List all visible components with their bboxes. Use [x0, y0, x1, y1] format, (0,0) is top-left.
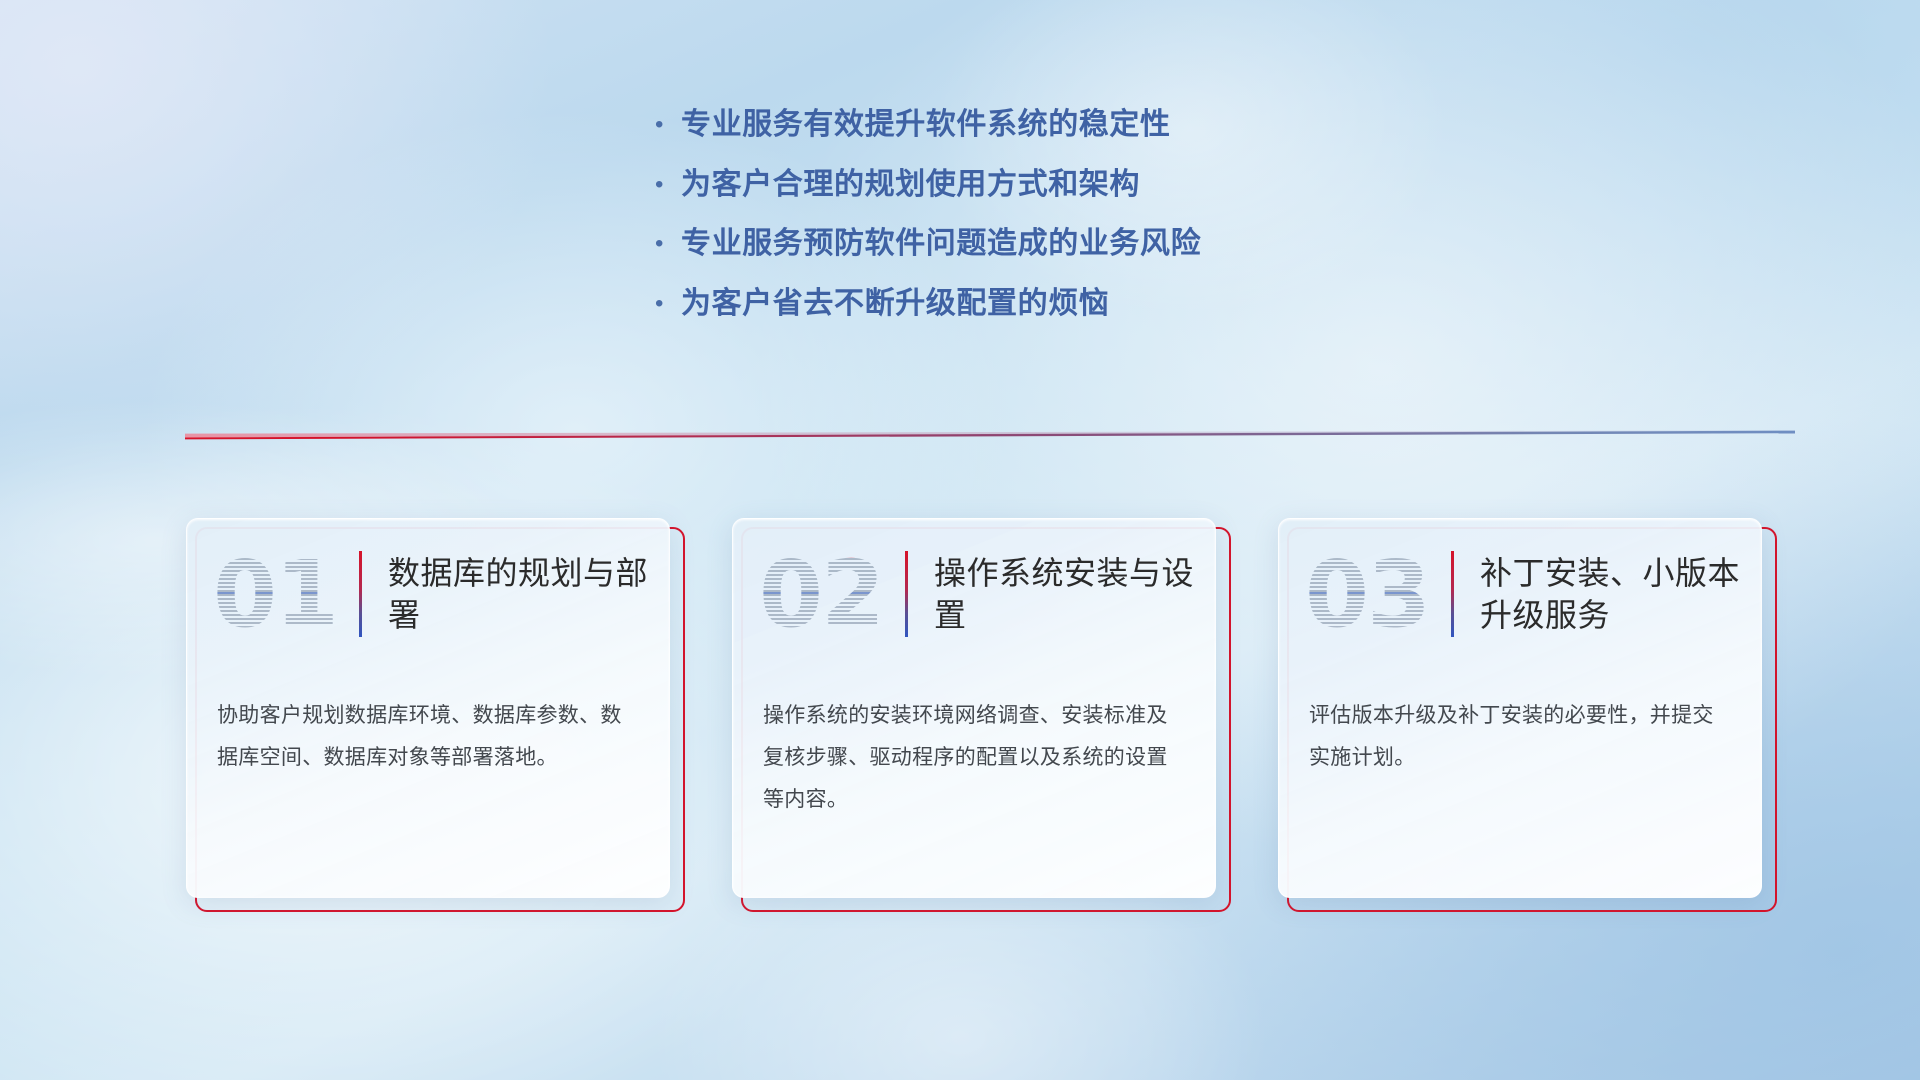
bullet-text: 专业服务有效提升软件系统的稳定性 [681, 108, 1171, 143]
service-card-list: 01 01 数据库的规划与部署 协助客户规划数据库环境、数据库参数、数据库空间、… [186, 518, 1916, 918]
card-number-glyph-tint: 03 [1305, 538, 1445, 650]
bullet-text: 为客户合理的规划使用方式和架构 [681, 168, 1140, 203]
card-title: 操作系统安装与设置 [934, 552, 1215, 636]
slide-canvas: • 专业服务有效提升软件系统的稳定性 • 为客户合理的规划使用方式和架构 • 专… [0, 0, 1920, 1080]
card-header: 02 02 操作系统安装与设置 [733, 519, 1215, 669]
card-number-glyph-tint: 01 [213, 538, 353, 650]
card-number-glyph-tint: 02 [759, 538, 899, 650]
card-number: 02 02 [759, 538, 899, 650]
card-description: 协助客户规划数据库环境、数据库参数、数据库空间、数据库对象等部署落地。 [187, 669, 669, 779]
bullet-text: 专业服务预防软件问题造成的业务风险 [681, 227, 1201, 262]
service-card[interactable]: 01 01 数据库的规划与部署 协助客户规划数据库环境、数据库参数、数据库空间、… [186, 518, 676, 903]
bullet-dot-icon: • [655, 173, 681, 197]
list-item: • 为客户省去不断升级配置的烦恼 [655, 287, 1201, 322]
card-title: 补丁安装、小版本升级服务 [1480, 552, 1761, 636]
bullet-dot-icon: • [655, 232, 681, 256]
bullet-text: 为客户省去不断升级配置的烦恼 [681, 287, 1109, 322]
card-title: 数据库的规划与部署 [388, 552, 669, 636]
card-divider-rule [905, 551, 908, 637]
divider-line-icon [185, 424, 1795, 440]
card-surface: 03 03 补丁安装、小版本升级服务 评估版本升级及补丁安装的必要性，并提交实施… [1278, 518, 1762, 898]
section-divider [185, 424, 1795, 440]
list-item: • 专业服务预防软件问题造成的业务风险 [655, 227, 1201, 262]
service-card[interactable]: 03 03 补丁安装、小版本升级服务 评估版本升级及补丁安装的必要性，并提交实施… [1278, 518, 1768, 903]
list-item: • 为客户合理的规划使用方式和架构 [655, 168, 1201, 203]
card-description: 操作系统的安装环境网络调查、安装标准及复核步骤、驱动程序的配置以及系统的设置等内… [733, 669, 1215, 821]
card-header: 03 03 补丁安装、小版本升级服务 [1279, 519, 1761, 669]
bullet-dot-icon: • [655, 292, 681, 316]
benefits-bullet-list: • 专业服务有效提升软件系统的稳定性 • 为客户合理的规划使用方式和架构 • 专… [655, 108, 1201, 321]
card-description: 评估版本升级及补丁安装的必要性，并提交实施计划。 [1279, 669, 1761, 779]
card-surface: 01 01 数据库的规划与部署 协助客户规划数据库环境、数据库参数、数据库空间、… [186, 518, 670, 898]
list-item: • 专业服务有效提升软件系统的稳定性 [655, 108, 1201, 143]
card-divider-rule [359, 551, 362, 637]
service-card[interactable]: 02 02 操作系统安装与设置 操作系统的安装环境网络调查、安装标准及复核步骤、… [732, 518, 1222, 903]
card-divider-rule [1451, 551, 1454, 637]
card-header: 01 01 数据库的规划与部署 [187, 519, 669, 669]
bullet-dot-icon: • [655, 113, 681, 137]
card-number: 01 01 [213, 538, 353, 650]
card-number: 03 03 [1305, 538, 1445, 650]
card-surface: 02 02 操作系统安装与设置 操作系统的安装环境网络调查、安装标准及复核步骤、… [732, 518, 1216, 898]
